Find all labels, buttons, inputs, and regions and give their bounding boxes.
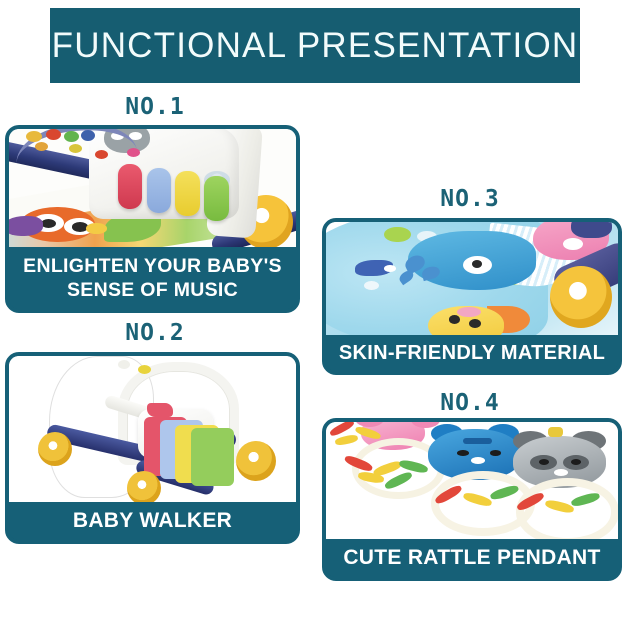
walker-wheel-left bbox=[38, 432, 72, 466]
panel-number-label-2: NO.2 bbox=[40, 322, 270, 345]
feature-caption-4: CUTE RATTLE PENDANT bbox=[326, 539, 618, 577]
play-mat-illustration bbox=[326, 222, 618, 335]
feature-photo-3 bbox=[326, 222, 618, 335]
header-banner: FUNCTIONAL PRESENTATION bbox=[50, 8, 580, 83]
page-title: FUNCTIONAL PRESENTATION bbox=[52, 28, 579, 63]
feature-photo-4 bbox=[326, 422, 618, 539]
feature-caption-2: BABY WALKER bbox=[9, 502, 296, 540]
piano-key-green bbox=[204, 176, 228, 221]
walker-key-green bbox=[191, 428, 234, 486]
baby-walker-illustration bbox=[9, 356, 296, 502]
caption-line-1: ENLIGHTEN YOUR BABY'S bbox=[23, 254, 282, 278]
walker-wheel-bottom bbox=[127, 471, 161, 502]
feature-photo-1 bbox=[9, 129, 296, 247]
feature-photo-2 bbox=[9, 356, 296, 502]
caption-line-1: SKIN-FRIENDLY MATERIAL bbox=[339, 342, 605, 365]
feature-panel-1[interactable]: ENLIGHTEN YOUR BABY'S SENSE OF MUSIC bbox=[5, 125, 300, 313]
feature-caption-1: ENLIGHTEN YOUR BABY'S SENSE OF MUSIC bbox=[9, 247, 296, 309]
rattle-pendants-illustration bbox=[326, 422, 618, 539]
piano-key-red bbox=[118, 164, 142, 209]
feature-panel-3[interactable]: SKIN-FRIENDLY MATERIAL bbox=[322, 218, 622, 375]
piano-key-yellow bbox=[175, 171, 199, 216]
panel-number-label-1: NO.1 bbox=[40, 96, 270, 119]
caption-line-2: SENSE OF MUSIC bbox=[67, 278, 238, 302]
caption-line-1: BABY WALKER bbox=[73, 509, 232, 533]
piano-key-blue bbox=[147, 168, 171, 213]
panel-number-label-4: NO.4 bbox=[355, 392, 585, 415]
play-gym-illustration bbox=[9, 129, 296, 247]
caption-line-1: CUTE RATTLE PENDANT bbox=[343, 546, 600, 570]
feature-panel-4[interactable]: CUTE RATTLE PENDANT bbox=[322, 418, 622, 581]
panel-number-label-3: NO.3 bbox=[355, 188, 585, 211]
feature-panel-2[interactable]: BABY WALKER bbox=[5, 352, 300, 544]
feature-caption-3: SKIN-FRIENDLY MATERIAL bbox=[326, 335, 618, 371]
walker-wheel-right bbox=[236, 441, 276, 481]
mat-wheel bbox=[550, 266, 612, 328]
